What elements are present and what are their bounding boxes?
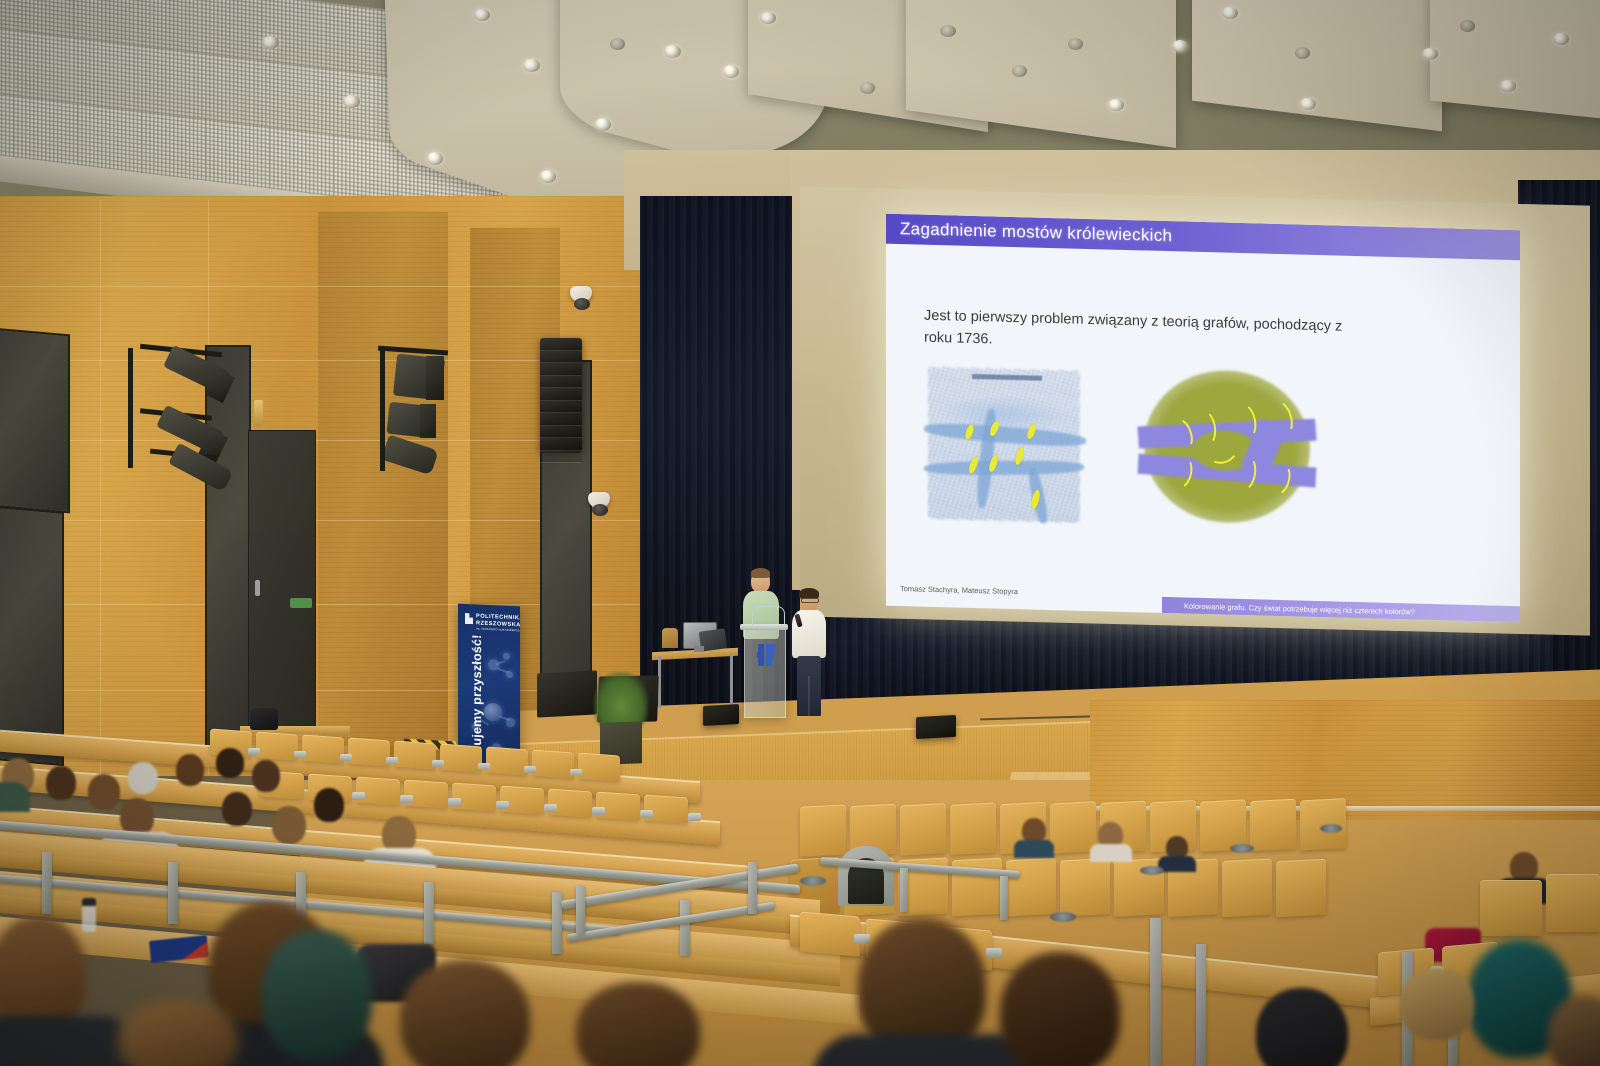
railing-post [424, 882, 434, 944]
seat[interactable] [1222, 858, 1272, 917]
railing-post [1000, 876, 1008, 920]
seat[interactable] [1546, 874, 1600, 932]
stage-floor-monitor [916, 715, 956, 739]
presenter-hair [751, 568, 770, 578]
wall-acoustic-panel [0, 504, 64, 766]
konigsberg-schematic-diagram [1138, 362, 1316, 532]
audience-head-midground [1400, 968, 1474, 1040]
floor-vent [1140, 866, 1164, 875]
seat[interactable] [302, 735, 344, 764]
seat-armrest [386, 757, 398, 764]
audience-head [88, 774, 120, 810]
seat-armrest [496, 801, 509, 809]
presenter-leg-split [808, 676, 810, 716]
railing-post [1196, 944, 1206, 1066]
audience-head-foreground [576, 982, 700, 1066]
ceiling-downlight [262, 36, 279, 49]
audience-head-foreground [118, 1000, 238, 1066]
banner-brand-sub: im. IGNACEGO ŁUKASIEWICZA [476, 627, 520, 632]
seat[interactable] [356, 776, 400, 805]
wall-seam [100, 200, 101, 775]
railing-post [680, 900, 690, 956]
microphone-gooseneck [768, 606, 785, 625]
spotlight-pole [128, 348, 133, 468]
seat[interactable] [532, 750, 574, 779]
railing-post [42, 852, 52, 914]
ceiling-downlight [940, 25, 956, 37]
seat[interactable] [1006, 858, 1056, 917]
seat-armrest [448, 798, 461, 806]
seat[interactable] [348, 738, 390, 767]
ceiling-downlight [595, 118, 611, 131]
audience-head-foreground [400, 960, 530, 1066]
floor-vent [1320, 824, 1342, 833]
seat[interactable] [1060, 858, 1110, 917]
ceiling-downlight [1500, 80, 1516, 92]
seat-armrest [294, 751, 306, 758]
auditorium-photograph: Zagadnienie mostów królewieckich Jest to… [0, 0, 1600, 1066]
seat-armrest [432, 760, 444, 767]
slide-body-text: Jest to pierwszy problem związany z teor… [924, 305, 1484, 365]
spotlight-barndoor [420, 404, 436, 438]
seat-armrest [592, 807, 605, 815]
ceiling-downlight [664, 45, 681, 58]
ceiling-downlight [1222, 7, 1238, 19]
ceiling-downlight [1300, 98, 1316, 110]
railing-post [748, 862, 757, 914]
seat[interactable] [578, 753, 620, 782]
monitor-stand [694, 646, 704, 652]
stage-floor-monitor [703, 704, 739, 726]
audience-head [128, 762, 158, 794]
seat[interactable] [900, 803, 946, 855]
seat-armrest [640, 810, 653, 818]
seat[interactable] [256, 732, 298, 761]
ceiling-downlight [723, 65, 739, 78]
floor-vent [1050, 912, 1076, 922]
table-leg [730, 654, 733, 706]
spotlight-pole [380, 346, 385, 471]
seat-armrest [688, 813, 701, 821]
seat[interactable] [500, 785, 544, 814]
ceiling-downlight [523, 59, 540, 72]
seat[interactable] [800, 911, 860, 956]
ceiling-downlight [1108, 99, 1124, 111]
banner-brand-name: POLITECHNIKA RZESZOWSKA im. IGNACEGO ŁUK… [476, 613, 520, 632]
seat[interactable] [404, 779, 448, 808]
seat[interactable] [644, 794, 688, 823]
desk-chair [662, 628, 678, 648]
audience-head-foreground [1000, 952, 1120, 1066]
audience-head [46, 766, 76, 800]
ceiling-downlight [860, 82, 875, 94]
molecule-node [503, 653, 510, 660]
wall-wood-left-column [318, 212, 448, 772]
seat-armrest [352, 792, 365, 800]
audience-head [222, 792, 252, 826]
line-array-speaker [540, 338, 582, 453]
microphone-gooseneck [752, 606, 769, 625]
university-logo-mark [465, 613, 473, 624]
seat-armrest [340, 754, 352, 761]
seat-armrest [570, 769, 582, 776]
audience-head-midground [1256, 988, 1348, 1066]
konigsberg-map-engraving [928, 367, 1080, 523]
audience-head [272, 806, 306, 844]
ceiling-downlight [1553, 33, 1569, 45]
spotlight-barndoor [426, 356, 444, 400]
seat[interactable] [394, 741, 436, 770]
seat-armrest [478, 763, 490, 770]
backpack-on-table [250, 708, 278, 730]
audience-head [252, 760, 280, 792]
railing-post [168, 862, 178, 924]
seat[interactable] [950, 802, 996, 854]
seat[interactable] [1276, 859, 1326, 918]
audience-head-foreground [262, 930, 372, 1060]
seat-armrest [400, 795, 413, 803]
seat[interactable] [452, 782, 496, 811]
railing-post [576, 886, 585, 934]
slide-footer-subject: Kolorowanie grafu. Czy świat potrzebuje … [1184, 602, 1415, 617]
wall-acoustic-panel [0, 326, 70, 514]
seat[interactable] [440, 744, 482, 773]
seat-armrest [544, 804, 557, 812]
audience-head [176, 754, 204, 786]
floor-vent [1230, 844, 1254, 853]
ceiling-downlight [760, 12, 776, 24]
slide-title: Zagadnienie mostów królewieckich [900, 219, 1172, 246]
seat[interactable] [596, 791, 640, 820]
audience-shoulders [0, 782, 30, 812]
wall-seam [0, 286, 640, 287]
ceiling-downlight [474, 9, 490, 21]
water-bottle [82, 898, 96, 932]
molecule-bond [499, 715, 510, 720]
ceiling-downlight [427, 152, 443, 165]
ceiling-downlight [1012, 65, 1027, 77]
audience-head [314, 788, 344, 822]
door-handle[interactable] [255, 580, 260, 596]
seat[interactable] [548, 788, 592, 817]
presentation-slide: Zagadnienie mostów królewieckich Jest to… [886, 214, 1520, 623]
seat-armrest [854, 934, 870, 944]
ceiling-downlight [1422, 48, 1438, 60]
ptz-camera-dome [574, 298, 590, 310]
audience-head [216, 748, 244, 778]
ceiling-downlight [540, 170, 556, 183]
molecule-bond [497, 667, 509, 673]
audience-shoulders [1014, 840, 1054, 858]
audience-shoulders [1090, 844, 1132, 862]
seat[interactable] [1480, 880, 1542, 936]
seat[interactable] [486, 747, 528, 776]
molecule-node [484, 703, 502, 722]
ceiling-downlight [1295, 47, 1310, 59]
ceiling-downlight [1460, 20, 1475, 32]
ptz-camera-dome [592, 504, 608, 516]
wall-acoustic-panel [205, 345, 251, 749]
green-object-on-table [290, 598, 312, 608]
ceiling-downlight [1068, 38, 1083, 50]
ceiling-downlight [610, 38, 625, 50]
eyeglasses [801, 598, 819, 603]
lectern [744, 628, 786, 718]
ceiling-downlight [343, 95, 360, 108]
wall-sconce [254, 400, 263, 426]
railing-post [900, 868, 908, 912]
seat-armrest [986, 948, 1002, 958]
ceiling-downlight [1172, 40, 1188, 52]
stage-monitor-speaker [537, 670, 597, 717]
seat-armrest [524, 766, 536, 773]
railing-post [1150, 918, 1161, 1066]
seat-armrest [248, 748, 260, 755]
slide-footer-authors: Tomasz Stachyra, Mateusz Stopyra [900, 584, 1018, 596]
